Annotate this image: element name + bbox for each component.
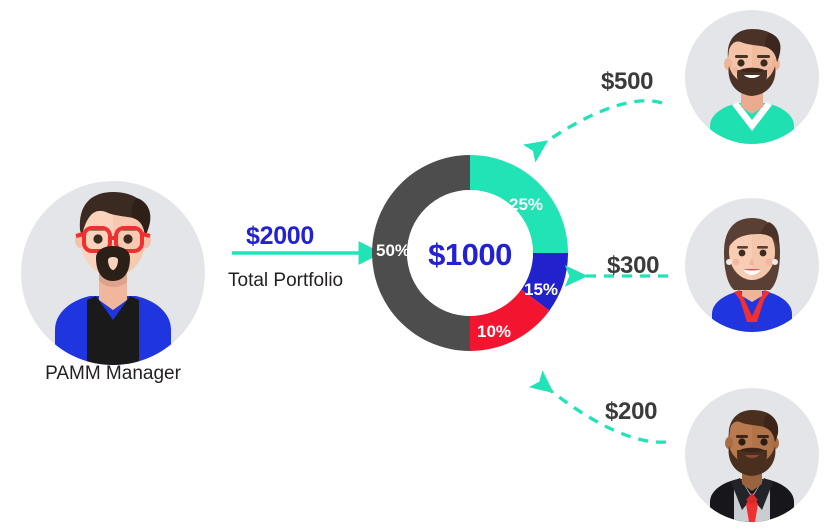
donut-slice-label-15: 15%	[524, 280, 558, 300]
investor-suited-man-avatar-icon	[685, 388, 819, 522]
investor-1-arrow-icon	[540, 101, 662, 146]
donut-slice-label-50: 50%	[376, 241, 410, 261]
manager-avatar-icon	[21, 181, 205, 365]
investor-bearded-man-avatar-icon	[685, 10, 819, 144]
donut-center-label: $1000	[407, 237, 533, 273]
diagram-canvas: PAMM Manager $2000 Total Portfolio $1000…	[0, 0, 826, 530]
investor-2-amount-label: $300	[607, 252, 659, 280]
donut-slice-label-10: 10%	[477, 322, 511, 342]
investor-woman-avatar-icon	[685, 198, 819, 332]
manager-name-label: PAMM Manager	[0, 363, 226, 385]
transfer-caption-label: Total Portfolio	[228, 270, 343, 292]
donut-slice-label-25: 25%	[509, 195, 543, 215]
investor-3-amount-label: $200	[605, 398, 657, 426]
investor-1-amount-label: $500	[601, 68, 653, 96]
